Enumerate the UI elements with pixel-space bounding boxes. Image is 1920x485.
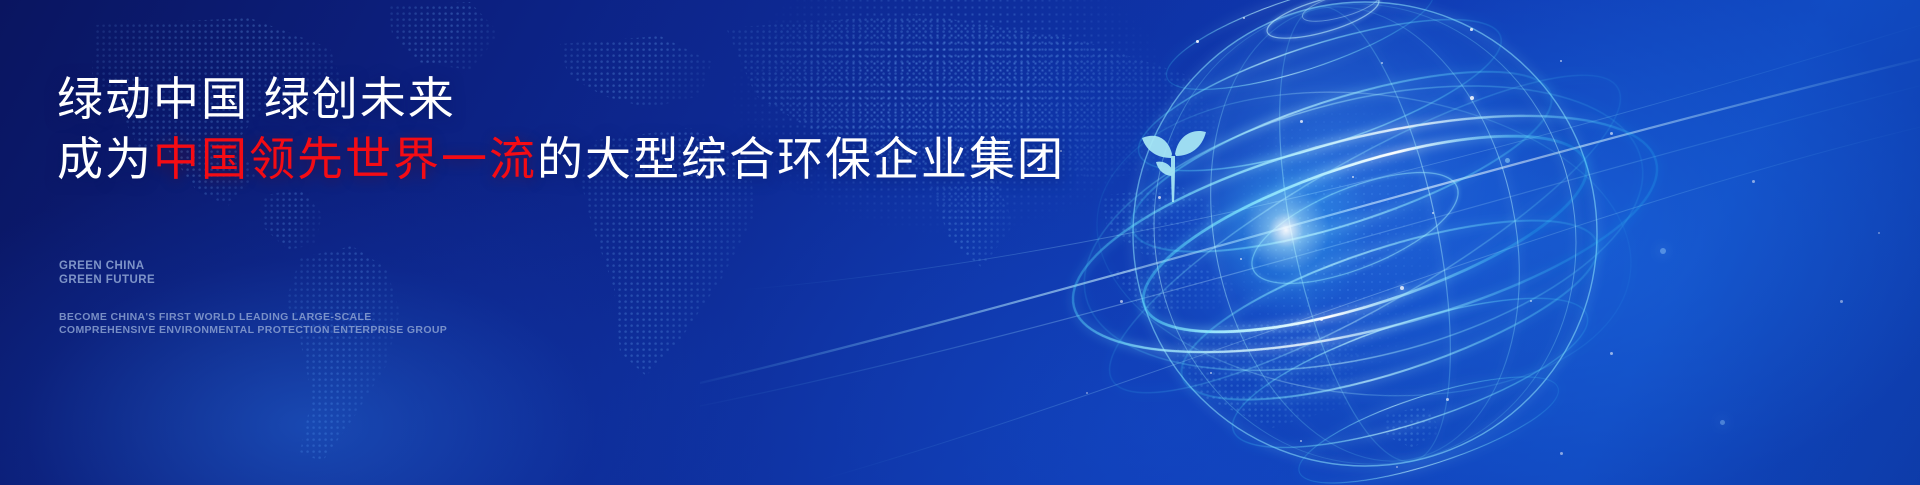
subtitle-english-line-2: GREEN FUTURE (59, 273, 155, 287)
headline-line-2-prefix: 成为 (57, 133, 153, 185)
tagline-english-line-1: BECOME CHINA'S FIRST WORLD LEADING LARGE… (59, 311, 447, 324)
subtitle-english-line-1: GREEN CHINA (59, 259, 155, 273)
headline-line-2-suffix: 的大型综合环保企业集团 (537, 133, 1065, 185)
halftone-dot-field-secondary (1240, 70, 1540, 450)
subtitle-english: GREEN CHINA GREEN FUTURE (59, 259, 155, 287)
headline-line-1: 绿动中国 绿创未来 (57, 72, 1077, 126)
headline-block: 绿动中国 绿创未来 成为中国领先世界一流的大型综合环保企业集团 (57, 72, 1077, 187)
headline-line-2-highlight: 中国领先世界一流 (153, 133, 537, 185)
tagline-english-line-2: COMPREHENSIVE ENVIRONMENTAL PROTECTION E… (59, 324, 447, 337)
hero-banner: 绿动中国 绿创未来 成为中国领先世界一流的大型综合环保企业集团 GREEN CH… (0, 0, 1920, 485)
wireframe-globe-graphic (1055, 0, 1675, 485)
light-burst (1196, 140, 1376, 320)
tagline-english: BECOME CHINA'S FIRST WORLD LEADING LARGE… (59, 311, 447, 337)
headline-line-2: 成为中国领先世界一流的大型综合环保企业集团 (57, 132, 1077, 186)
sprout-leaf-icon (1138, 118, 1210, 202)
